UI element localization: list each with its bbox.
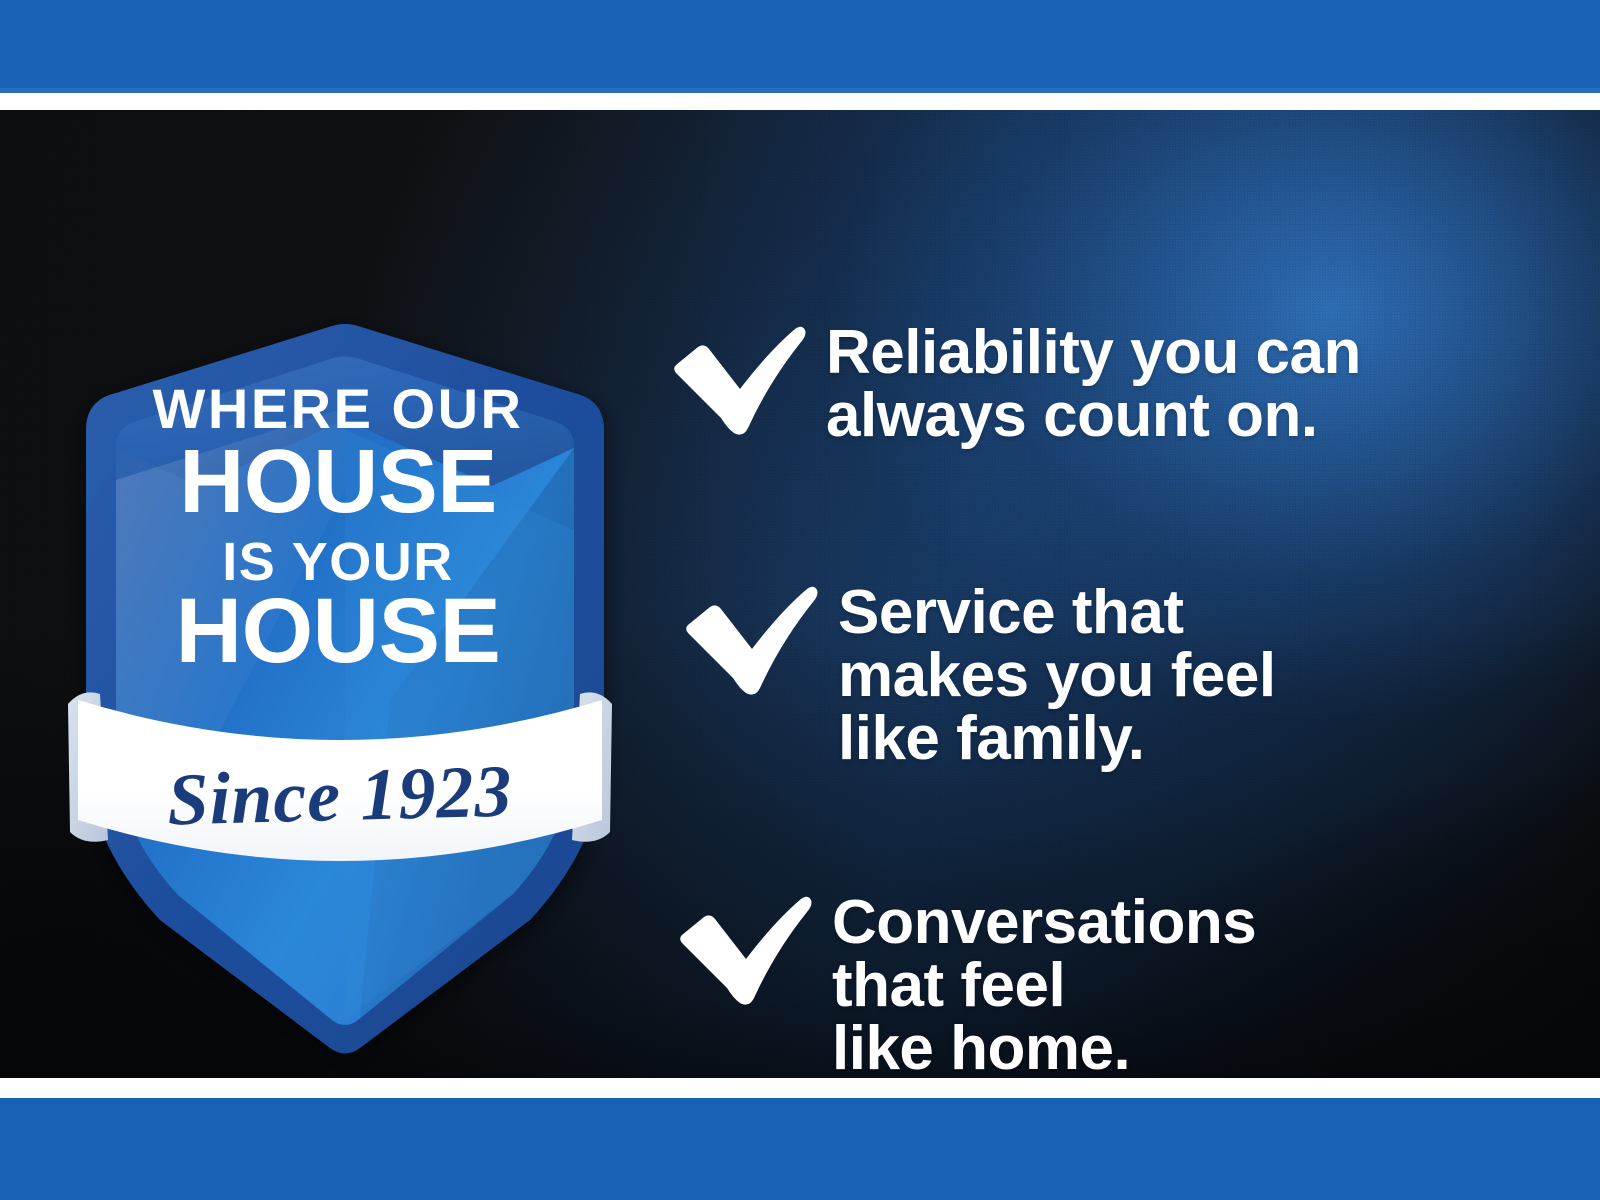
shield-line-4: HOUSE — [176, 580, 501, 682]
benefit-text: Conversations that feel like home. — [832, 891, 1256, 1078]
benefit-item: Reliability you can always count on. — [668, 315, 1361, 447]
shield-line-1: WHERE OUR — [153, 377, 524, 440]
benefit-item: Service that makes you feel like family. — [680, 575, 1276, 771]
checkmark-icon — [674, 891, 814, 1006]
checkmark-icon — [668, 321, 808, 436]
shield-banner-text: Since 1923 — [166, 750, 513, 841]
top-white-divider — [0, 93, 1600, 110]
promo-graphic: WHERE OUR HOUSE IS YOUR HOUSE Since 1923 — [0, 0, 1600, 1200]
shield-logo: WHERE OUR HOUSE IS YOUR HOUSE Since 1923 — [60, 280, 620, 1070]
benefit-text: Reliability you can always count on. — [826, 321, 1361, 447]
bottom-white-divider — [0, 1078, 1600, 1098]
checkmark-icon — [680, 581, 820, 696]
shield-line-2: HOUSE — [179, 432, 497, 532]
top-brand-bar — [0, 0, 1600, 88]
main-stage: WHERE OUR HOUSE IS YOUR HOUSE Since 1923 — [0, 110, 1600, 1078]
bottom-brand-bar — [0, 1098, 1600, 1200]
benefit-text: Service that makes you feel like family. — [838, 581, 1276, 771]
benefits-list: Reliability you can always count on. Ser… — [668, 220, 1568, 1078]
shield-headline: WHERE OUR HOUSE IS YOUR HOUSE — [153, 377, 524, 682]
benefit-item: Conversations that feel like home. — [674, 885, 1256, 1078]
